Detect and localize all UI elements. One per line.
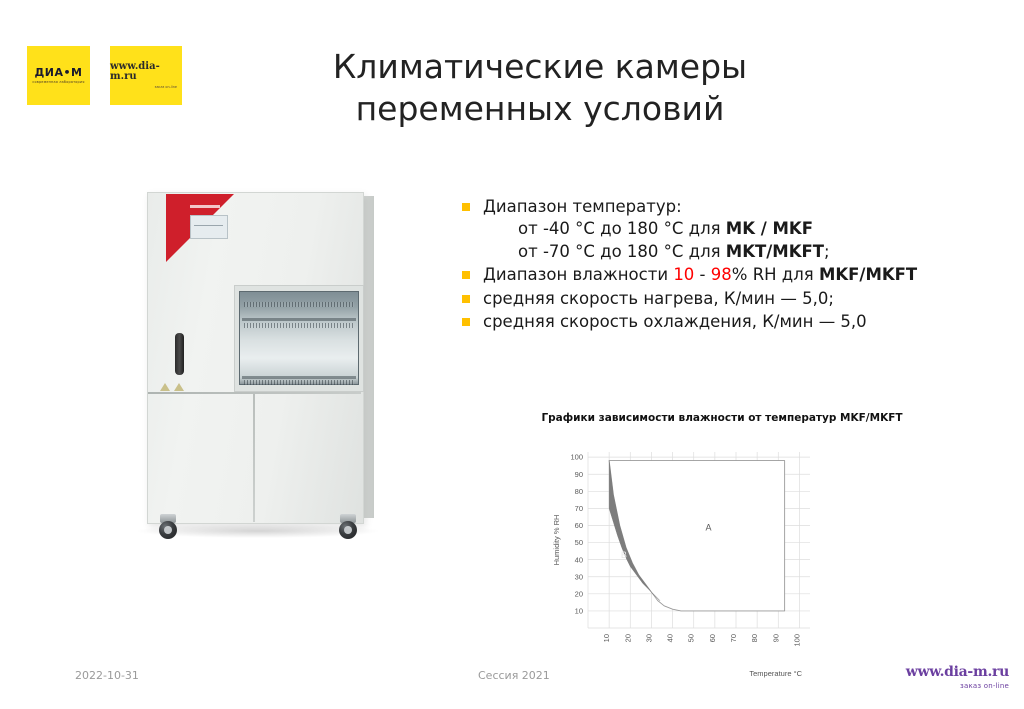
chart-x-tick-60: 60 xyxy=(708,634,717,642)
bullet-3-text: средняя скорость нагрева, К/мин — 5,0; xyxy=(483,288,982,310)
chamber-interior-grate-top xyxy=(244,302,354,307)
chart-x-tick-40: 40 xyxy=(666,634,675,642)
bullet-2-humidity-min: 10 xyxy=(673,265,694,284)
chamber-window-glass xyxy=(239,291,359,385)
bullet-1-subline-1-prefix: от -40 °C до 180 °C для xyxy=(518,219,726,238)
bullet-square-icon xyxy=(462,203,470,211)
logo-diam: ДИА•М современная лаборатория xyxy=(27,46,90,105)
footer-logo-dia-m[interactable]: www.dia-m.ru заказ on-line xyxy=(897,665,1009,697)
chamber-interior-shelf-1 xyxy=(242,318,356,321)
list-item: средняя скорость охлаждения, К/мин — 5,0 xyxy=(462,311,982,333)
chamber-interior-grate-bottom xyxy=(244,380,354,385)
bullet-1-main: Диапазон температур: xyxy=(483,196,982,218)
bullet-1-subline-1-model: MK / MKF xyxy=(726,219,813,238)
bullet-1-subline-1: от -40 °C до 180 °C для MK / MKF xyxy=(518,218,982,240)
chart-x-tick-80: 80 xyxy=(750,634,759,642)
chamber-door-handle xyxy=(175,333,184,375)
chart-y-tick-30: 30 xyxy=(575,572,583,581)
bullet-1-subline-2: от -70 °C до 180 °C для MKT/MKFT; xyxy=(518,241,982,263)
chart-y-tick-70: 70 xyxy=(575,504,583,513)
chart-y-tick-80: 80 xyxy=(575,487,583,496)
chart-caption: Графики зависимости влажности от темпера… xyxy=(462,412,982,424)
bullet-2-text: Диапазон влажности 10 - 98% RH для MKF/M… xyxy=(483,264,982,286)
chamber-floor-shadow xyxy=(138,524,378,538)
page-title-line1: Климатические камеры xyxy=(270,46,810,88)
bullet-2-humidity-max: 98 xyxy=(711,265,732,284)
chamber-interior-grate-mid xyxy=(244,323,354,328)
bullet-2-part-1: Диапазон влажности xyxy=(483,265,673,284)
chart-y-tick-60: 60 xyxy=(575,521,583,530)
chart-x-axis-label: Temperature °C xyxy=(749,669,802,678)
page-title: Климатические камеры переменных условий xyxy=(270,46,810,130)
chart-region-label-B: B xyxy=(621,550,627,560)
chart-y-tick-90: 90 xyxy=(575,470,583,479)
chamber-window-frame xyxy=(234,285,364,392)
chart-x-tick-30: 30 xyxy=(644,634,653,642)
logo-diam-name: ДИА•М xyxy=(35,67,83,78)
bullet-square-icon xyxy=(462,318,470,326)
chart-y-axis-label: Humidity % RH xyxy=(552,515,561,566)
chart-svg: 102030405060708090100 102030405060708090… xyxy=(548,440,828,680)
chart-x-tick-labels: 102030405060708090100 xyxy=(602,634,801,647)
bullet-2-part-5: % RH для xyxy=(732,265,819,284)
chart-x-tick-50: 50 xyxy=(687,634,696,642)
logo-website-url: www.dia-m.ru xyxy=(110,62,182,82)
footer-logo-url-text: www.dia-m.ru xyxy=(906,664,1009,680)
bullet-2-part-3: - xyxy=(694,265,710,284)
bullet-4-text: средняя скорость охлаждения, К/мин — 5,0 xyxy=(483,311,982,333)
warning-triangle-icon-2 xyxy=(174,383,184,391)
footer-session: Сессия 2021 xyxy=(478,669,550,682)
logo-diam-tagline: современная лаборатория xyxy=(32,80,84,84)
chart-y-tick-50: 50 xyxy=(575,538,583,547)
chart-x-tick-20: 20 xyxy=(623,634,632,642)
chamber-front-body xyxy=(147,192,364,524)
chart-x-tick-90: 90 xyxy=(771,634,780,642)
bullet-1-subline-2-prefix: от -70 °C до 180 °C для xyxy=(518,242,726,261)
chamber-interior-shelf-2 xyxy=(242,376,356,379)
presentation-slide: ДИА•М современная лаборатория www.dia-m.… xyxy=(0,0,1024,709)
bullet-1-subline-2-model: MKT/MKFT xyxy=(726,242,824,261)
list-item: средняя скорость нагрева, К/мин — 5,0; xyxy=(462,288,982,310)
chart-x-tick-70: 70 xyxy=(729,634,738,642)
chart-x-tick-10: 10 xyxy=(602,634,611,642)
chart-regions xyxy=(609,461,784,611)
humidity-temperature-chart: 102030405060708090100 102030405060708090… xyxy=(548,440,828,680)
specs-bullet-list: Диапазон температур: от -40 °C до 180 °C… xyxy=(462,196,982,335)
chart-region-label-A: A xyxy=(706,523,712,533)
footer-date: 2022-10-31 xyxy=(75,669,139,682)
chart-y-tick-20: 20 xyxy=(575,589,583,598)
bullet-1-subline-2-suffix: ; xyxy=(824,242,830,261)
control-panel-brand-strip xyxy=(190,205,220,208)
chart-y-tick-40: 40 xyxy=(575,555,583,564)
page-title-line2: переменных условий xyxy=(270,88,810,130)
footer-logo-tagline: заказ on-line xyxy=(897,682,1009,690)
list-item: Диапазон температур: от -40 °C до 180 °C… xyxy=(462,196,982,263)
warning-triangle-icon-1 xyxy=(160,383,170,391)
logo-website: www.dia-m.ru заказ on-line xyxy=(110,46,182,105)
chamber-base-door-split xyxy=(253,394,255,522)
bullet-2-models: MKF/MKFT xyxy=(819,265,917,284)
footer-logo-url: www.dia-m.ru xyxy=(897,665,1009,679)
chart-y-tick-labels: 102030405060708090100 xyxy=(570,453,583,616)
bullet-square-icon xyxy=(462,295,470,303)
control-panel-display xyxy=(190,215,228,239)
product-photo-climate-chamber xyxy=(130,192,392,552)
chart-y-tick-100: 100 xyxy=(570,453,583,462)
chart-x-tick-100: 100 xyxy=(792,634,801,647)
bullet-square-icon xyxy=(462,271,470,279)
chart-y-tick-10: 10 xyxy=(575,607,583,616)
list-item: Диапазон влажности 10 - 98% RH для MKF/M… xyxy=(462,264,982,286)
logo-website-tagline: заказ on-line xyxy=(155,85,177,89)
